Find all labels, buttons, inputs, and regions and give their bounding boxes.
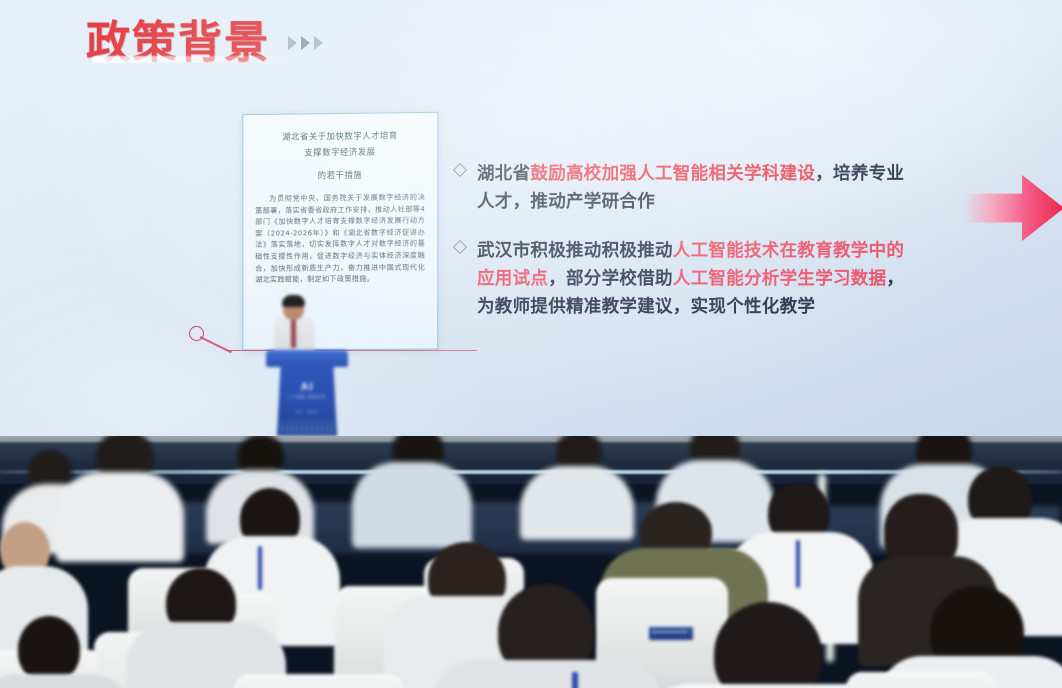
policy-document-card: 湖北省关于加快数字人才培育 支撑数字经济发展 的若干措施 为贯彻党中央、国务院关…	[242, 112, 438, 351]
doc-body-text: 为贯彻党中央、国务院关于发展数字经济的决策部署，落实省委省政府工作安排，推动人社…	[255, 191, 425, 285]
audience-chair	[846, 672, 996, 688]
podium-logo: AI	[277, 381, 337, 393]
audience-lanyard	[796, 540, 800, 588]
audience-area	[0, 436, 1062, 688]
chevron-decoration	[288, 36, 323, 50]
title-underline	[92, 56, 288, 63]
audience-shoulders	[520, 466, 634, 540]
list-item: 湖北省鼓励高校加强人工智能相关学科建设，培养专业人才，推动产学研合作	[455, 160, 910, 216]
bullet-1-seg-0: 湖北省	[477, 164, 530, 184]
podium-skyline-graphic	[281, 418, 333, 434]
bullet-text-1: 湖北省鼓励高校加强人工智能相关学科建设，培养专业人才，推动产学研合作	[477, 160, 910, 216]
bullet-2-seg-0: 武汉市积极推动积极推动	[477, 241, 673, 261]
projected-slide: 政策背景 湖北省关于加快数字人才培育 支撑数字经济发展 的若干措施 为贯彻党中央…	[0, 0, 1062, 436]
podium-top	[266, 350, 348, 367]
bullet-2-seg-2: ，部分学校借助	[548, 269, 673, 289]
seat-placard	[648, 626, 694, 641]
podium: AI 人工智能 教育应用 武汉 · 湖北省	[276, 350, 338, 436]
audience-lanyard	[572, 672, 578, 688]
bullet-1-seg-1: 鼓励高校加强人工智能相关学科建设	[530, 164, 815, 184]
audience-shoulders	[352, 462, 472, 548]
right-arrow-icon	[964, 172, 1062, 244]
decorative-diagonal-line	[200, 336, 232, 353]
diamond-bullet-icon	[453, 240, 467, 254]
doc-heading-line-3: 的若干措施	[255, 166, 425, 184]
chevron-right-icon-3	[314, 36, 323, 50]
conference-photo: 政策背景 湖北省关于加快数字人才培育 支撑数字经济发展 的若干措施 为贯彻党中央…	[0, 0, 1062, 688]
chevron-right-icon-2	[301, 36, 310, 50]
audience-shoulders	[432, 660, 662, 688]
speaker-lanyard	[291, 320, 296, 348]
audience-chair	[234, 674, 404, 688]
speaker-hair	[282, 295, 305, 307]
audience-head	[18, 616, 80, 682]
doc-heading-line-1: 湖北省关于加快数字人才培育	[255, 127, 425, 145]
doc-heading-line-2: 支撑数字经济发展	[255, 143, 425, 161]
podium-subtitle-2: 武汉 · 湖北省	[277, 409, 337, 414]
audience-shoulders	[56, 472, 184, 562]
diamond-bullet-icon	[453, 163, 467, 177]
bullet-list: 湖北省鼓励高校加强人工智能相关学科建设，培养专业人才，推动产学研合作 武汉市积极…	[455, 160, 910, 342]
list-item: 武汉市积极推动积极推动人工智能技术在教育教学中的应用试点，部分学校借助人工智能分…	[455, 237, 910, 321]
audience-lanyard	[258, 546, 262, 590]
podium-body: AI 人工智能 教育应用 武汉 · 湖北省	[277, 365, 337, 436]
chevron-right-icon-1	[288, 36, 297, 50]
bullet-2-seg-3: 人工智能分析学生学习数据	[673, 269, 887, 289]
podium-subtitle: 人工智能 教育应用	[277, 394, 337, 400]
bullet-text-2: 武汉市积极推动积极推动人工智能技术在教育教学中的应用试点，部分学校借助人工智能分…	[477, 237, 910, 321]
